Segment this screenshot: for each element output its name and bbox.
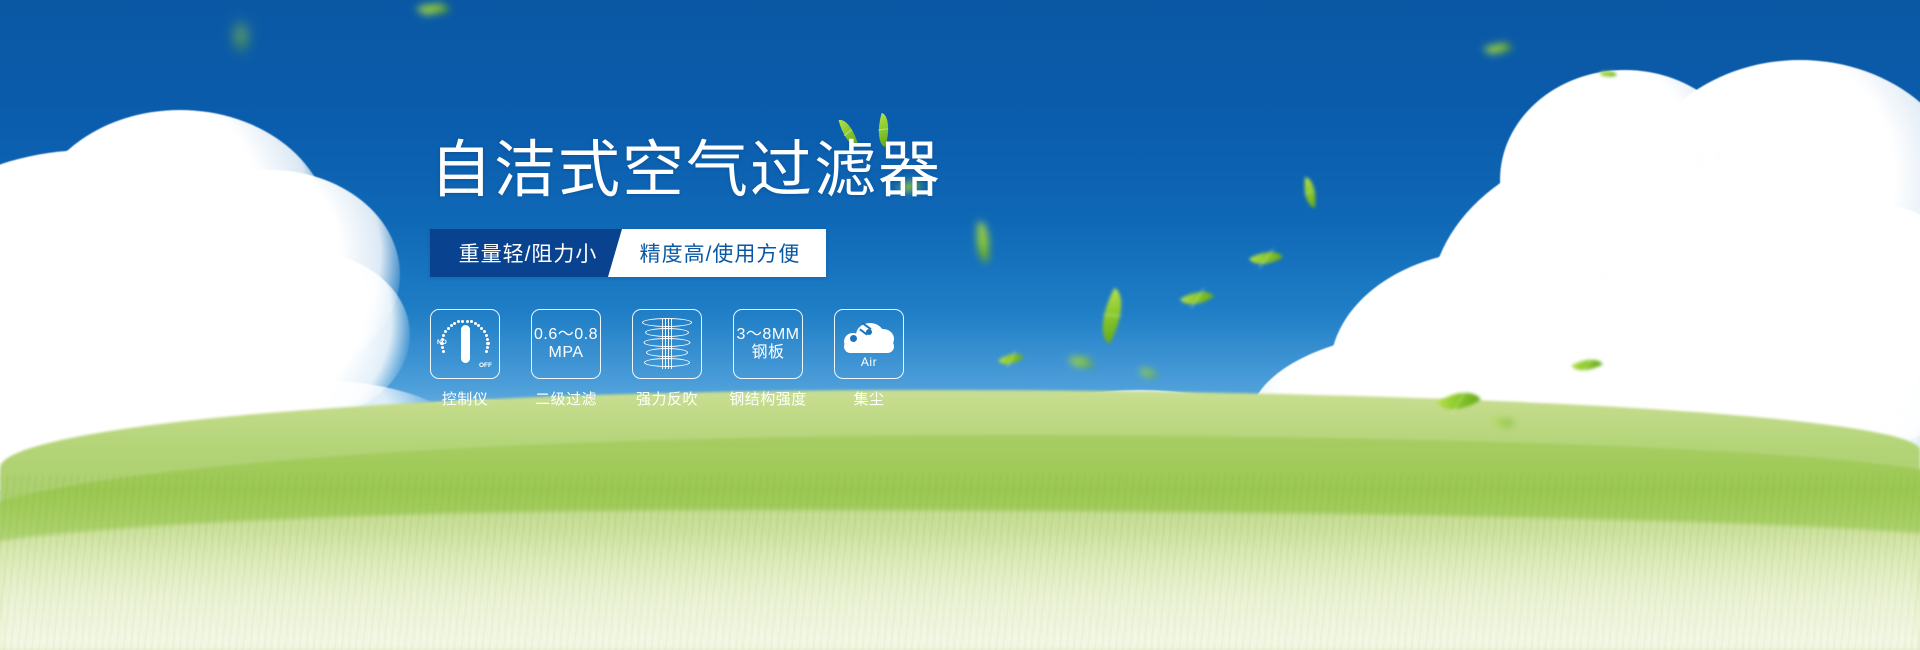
air-label: Air: [842, 355, 896, 369]
feature-item-dust-collection[interactable]: Air 集尘: [834, 309, 904, 409]
dial-dot: [442, 334, 445, 337]
feature-label: 强力反吹: [636, 388, 698, 409]
cloud-base: [844, 340, 894, 353]
dial-dot: [485, 350, 488, 353]
dial-label-no: NO: [437, 339, 447, 346]
dial-dot: [466, 320, 469, 323]
dial-dot: [461, 320, 464, 323]
subtitle-banner: 重量轻/阻力小 精度高/使用方便: [430, 229, 826, 277]
disc-stack-icon: [642, 317, 692, 371]
feature-icon-box: [632, 309, 702, 379]
grass-highlight: [0, 530, 1920, 650]
dial-dot: [442, 350, 445, 353]
dial-dot: [457, 320, 460, 323]
dial-dot: [470, 320, 473, 323]
dial-dot: [450, 324, 453, 327]
feature-label: 钢结构强度: [729, 388, 807, 409]
feature-label: 集尘: [853, 388, 884, 409]
feature-icon-box: 0.6～0.8 MPA: [531, 309, 601, 379]
dial-dot: [453, 322, 456, 325]
dial-dot: [483, 330, 486, 333]
pressure-value: 0.6～0.8: [534, 326, 598, 344]
dial-dot: [486, 346, 489, 349]
disc-ring: [646, 348, 688, 357]
subtitle-left-tag: 重量轻/阻力小: [430, 229, 622, 277]
disc-ring: [644, 358, 690, 367]
page-title: 自洁式空气过滤器: [430, 140, 1050, 202]
feature-icon-box: Air: [834, 309, 904, 379]
disc-ring: [642, 318, 692, 327]
product-hero-banner: 自洁式空气过滤器 重量轻/阻力小 精度高/使用方便 NO OFF 控制仪: [0, 0, 1920, 650]
dial-dot: [441, 346, 444, 349]
cloud-cutout: [850, 335, 857, 342]
dial-dot: [444, 330, 447, 333]
steel-thickness: 3～8MM: [737, 326, 800, 344]
feature-item-blowback[interactable]: 强力反吹: [632, 309, 702, 409]
dial-label-off: OFF: [479, 362, 492, 369]
feature-icon-row: NO OFF 控制仪 0.6～0.8 MPA 二级过滤: [430, 309, 1050, 409]
feature-item-control-dial[interactable]: NO OFF 控制仪: [430, 309, 500, 409]
feature-item-steel-plate[interactable]: 3～8MM 钢板 钢结构强度: [733, 309, 803, 409]
dial-dot: [486, 342, 489, 345]
steel-plate-text-icon: 3～8MM 钢板: [737, 326, 800, 362]
disc-ring: [645, 328, 689, 337]
feature-label: 二级过滤: [535, 388, 597, 409]
dial-pointer: [461, 325, 470, 363]
feature-item-pressure[interactable]: 0.6～0.8 MPA 二级过滤: [531, 309, 601, 409]
dial-dot: [447, 327, 450, 330]
feature-icon-box: 3～8MM 钢板: [733, 309, 803, 379]
dial-dot: [486, 338, 489, 341]
disc-ring: [644, 338, 691, 347]
feature-label: 控制仪: [442, 388, 489, 409]
pressure-text-icon: 0.6～0.8 MPA: [534, 326, 598, 362]
control-dial-icon: NO OFF: [437, 316, 493, 372]
steel-material: 钢板: [737, 344, 800, 362]
feature-icon-box: NO OFF: [430, 309, 500, 379]
dial-dot: [485, 334, 488, 337]
pressure-unit: MPA: [534, 344, 598, 362]
air-cloud-icon: Air: [842, 321, 896, 367]
subtitle-right-tag: 精度高/使用方便: [608, 229, 826, 277]
hero-content: 自洁式空气过滤器 重量轻/阻力小 精度高/使用方便 NO OFF 控制仪: [430, 140, 1050, 409]
